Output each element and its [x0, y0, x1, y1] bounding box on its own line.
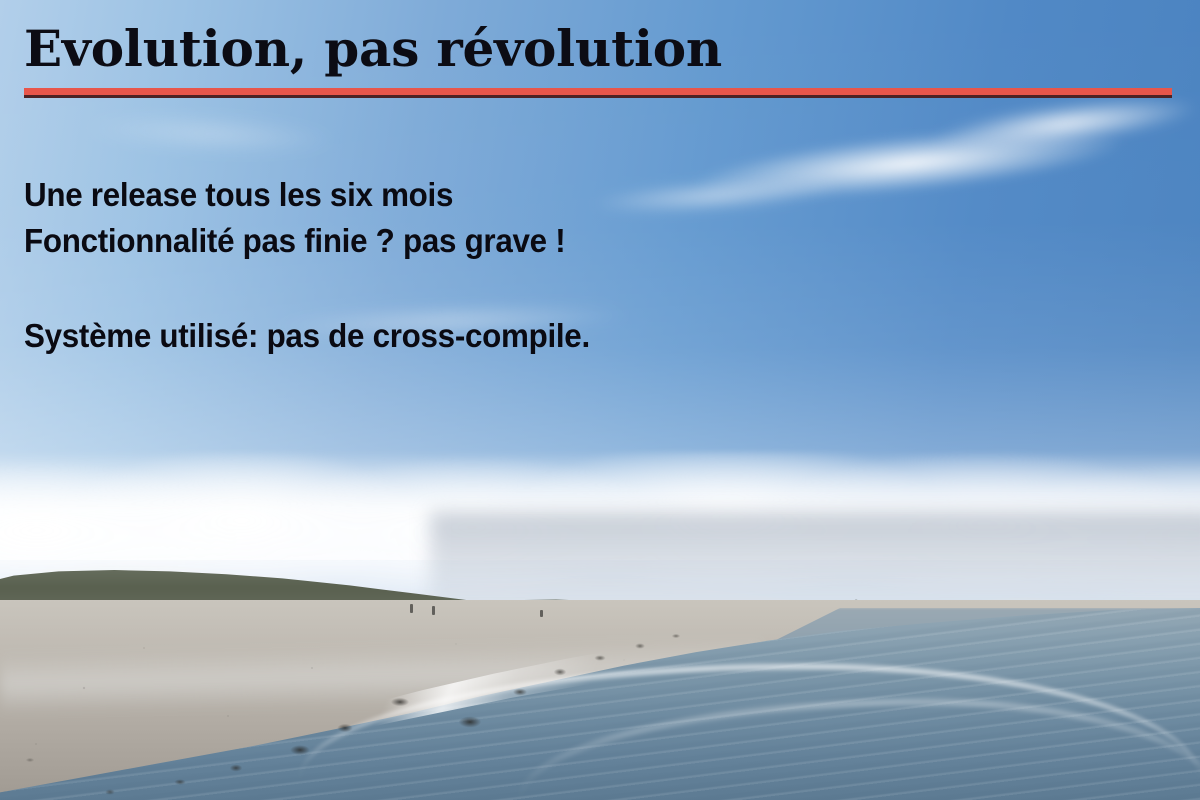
presentation-slide: Evolution, pas révolution Une release to…: [0, 0, 1200, 800]
slide-title: Evolution, pas révolution: [24, 22, 722, 76]
slide-body: Une release tous les six mois Fonctionna…: [24, 172, 1124, 359]
body-line-3: Système utilisé: pas de cross-compile.: [24, 313, 1069, 359]
beach-photo-background: [0, 0, 1200, 800]
seaweed-debris-line: [0, 600, 1200, 800]
body-line-1: Une release tous les six mois: [24, 172, 1069, 218]
title-underline-rule: [24, 88, 1172, 98]
body-line-2: Fonctionnalité pas finie ? pas grave !: [24, 218, 1069, 264]
